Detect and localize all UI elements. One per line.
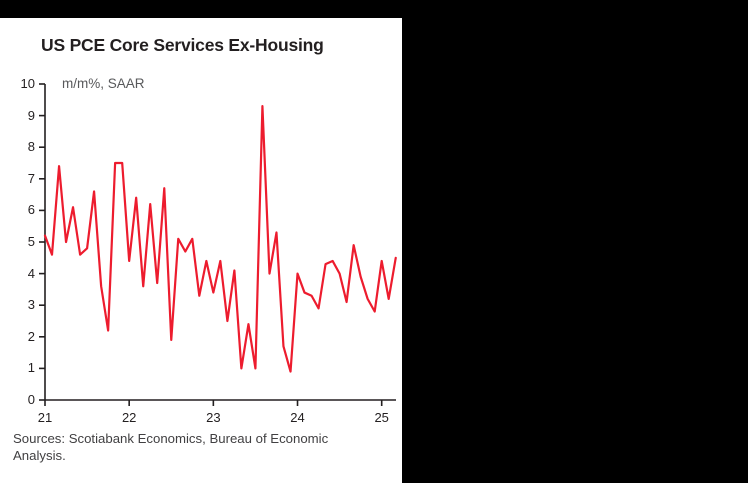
chart-panel: US PCE Core Services Ex-Housing m/m%, SA… bbox=[0, 18, 402, 483]
x-axis-ticks bbox=[45, 400, 382, 406]
y-axis-ticks bbox=[39, 84, 45, 400]
y-axis-tick-label: 9 bbox=[9, 108, 35, 123]
source-note: Sources: Scotiabank Economics, Bureau of… bbox=[13, 430, 373, 464]
x-axis-tick-label: 24 bbox=[283, 410, 313, 425]
series-line-pce-core-services-ex-housing bbox=[45, 106, 396, 371]
y-axis-tick-label: 3 bbox=[9, 297, 35, 312]
y-axis-tick-label: 0 bbox=[9, 392, 35, 407]
y-axis-tick-label: 7 bbox=[9, 171, 35, 186]
y-axis-tick-label: 1 bbox=[9, 360, 35, 375]
x-axis-tick-label: 22 bbox=[114, 410, 144, 425]
y-axis-tick-label: 4 bbox=[9, 266, 35, 281]
y-axis-tick-label: 6 bbox=[9, 202, 35, 217]
y-axis-tick-label: 5 bbox=[9, 234, 35, 249]
x-axis-tick-label: 23 bbox=[198, 410, 228, 425]
screenshot-root: US PCE Core Services Ex-Housing m/m%, SA… bbox=[0, 0, 748, 483]
x-axis-tick-label: 21 bbox=[30, 410, 60, 425]
y-axis-tick-label: 10 bbox=[9, 76, 35, 91]
x-axis-tick-label: 25 bbox=[367, 410, 397, 425]
y-axis-tick-label: 2 bbox=[9, 329, 35, 344]
y-axis-tick-label: 8 bbox=[9, 139, 35, 154]
